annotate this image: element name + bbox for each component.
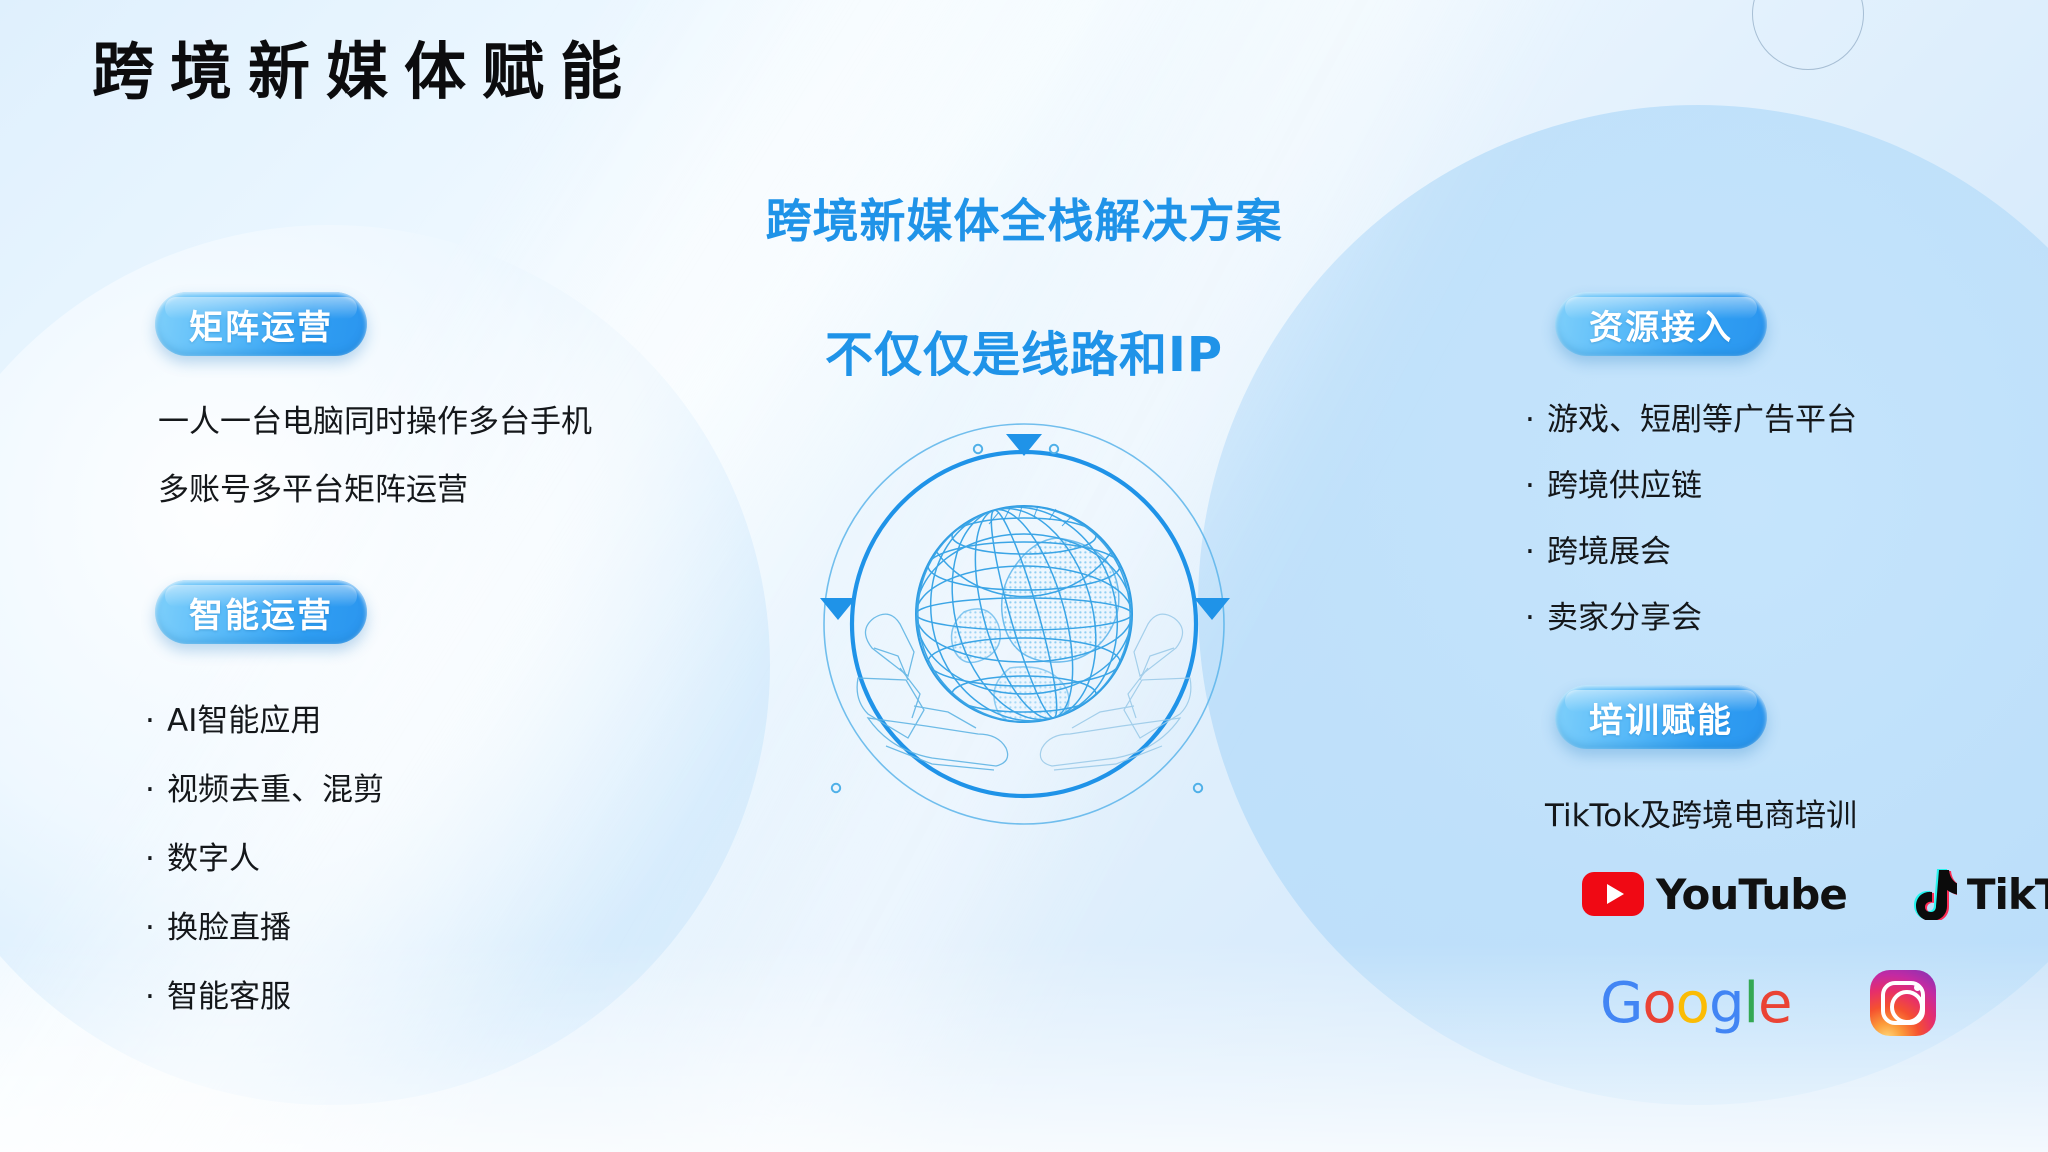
bullet-marker: · bbox=[1525, 600, 1547, 636]
bullet-marker: · bbox=[145, 772, 167, 808]
list-item-label: AI智能应用 bbox=[167, 703, 321, 739]
bullet-marker: · bbox=[1525, 534, 1547, 570]
right-text-line-1: TikTok及跨境电商培训 bbox=[1545, 796, 1857, 838]
youtube-label: YouTube bbox=[1656, 870, 1847, 919]
slide-canvas: 跨境新媒体赋能 跨境新媒体全栈解决方案 不仅仅是线路和IP 矩阵运营 一人一台电… bbox=[0, 0, 2048, 1152]
list-item: ·智能客服 bbox=[145, 971, 291, 1016]
left-text-line-2: 多账号多平台矩阵运营 bbox=[158, 470, 468, 512]
left-text-line-1: 一人一台电脑同时操作多台手机 bbox=[158, 402, 592, 444]
center-heading-primary: 跨境新媒体全栈解决方案 bbox=[0, 185, 2048, 251]
instagram-lens-icon bbox=[1890, 990, 1924, 1024]
pill-training-empowerment[interactable]: 培训赋能 bbox=[1555, 685, 1767, 749]
logo-row-top: YouTube TikTok bbox=[1582, 868, 2048, 920]
list-item: ·数字人 bbox=[145, 833, 260, 878]
pill-label: 智能运营 bbox=[189, 588, 333, 637]
google-logo[interactable]: Google bbox=[1600, 971, 1792, 1036]
tiktok-label: TikTok bbox=[1967, 870, 2048, 919]
bullet-marker: · bbox=[145, 703, 167, 739]
pill-label: 培训赋能 bbox=[1589, 693, 1733, 742]
instagram-dot-icon bbox=[1914, 984, 1921, 991]
globe-in-hands-icon bbox=[814, 416, 1234, 836]
pill-smart-operations[interactable]: 智能运营 bbox=[155, 580, 367, 644]
globe-illustration bbox=[814, 416, 1234, 836]
list-item-label: 跨境展会 bbox=[1547, 534, 1671, 570]
pill-label: 矩阵运营 bbox=[189, 300, 333, 349]
instagram-logo[interactable] bbox=[1870, 970, 1936, 1036]
list-item: ·换脸直播 bbox=[145, 902, 291, 947]
google-letter: o bbox=[1642, 971, 1675, 1036]
list-item-label: 跨境供应链 bbox=[1547, 468, 1702, 504]
list-item-label: 视频去重、混剪 bbox=[167, 772, 384, 808]
google-letter: o bbox=[1676, 971, 1709, 1036]
bullet-marker: · bbox=[145, 979, 167, 1015]
list-item: ·AI智能应用 bbox=[145, 695, 321, 740]
google-letter: e bbox=[1758, 971, 1791, 1036]
list-item-label: 卖家分享会 bbox=[1547, 600, 1702, 636]
list-item: ·跨境供应链 bbox=[1525, 460, 1702, 505]
pill-resource-access[interactable]: 资源接入 bbox=[1555, 292, 1767, 356]
tiktok-note-icon bbox=[1911, 868, 1957, 920]
bullet-marker: · bbox=[1525, 468, 1547, 504]
list-item: ·卖家分享会 bbox=[1525, 592, 1702, 637]
bullet-marker: · bbox=[145, 910, 167, 946]
bullet-marker: · bbox=[1525, 402, 1547, 438]
list-item: ·游戏、短剧等广告平台 bbox=[1525, 394, 1857, 439]
decorative-ring-icon bbox=[1752, 0, 1864, 70]
list-item: ·跨境展会 bbox=[1525, 526, 1671, 571]
list-item-label: 智能客服 bbox=[167, 979, 291, 1015]
list-item-label: 换脸直播 bbox=[167, 910, 291, 946]
list-item-label: 游戏、短剧等广告平台 bbox=[1547, 402, 1857, 438]
youtube-logo[interactable]: YouTube bbox=[1582, 870, 1847, 919]
pill-matrix-operations[interactable]: 矩阵运营 bbox=[155, 292, 367, 356]
page-title: 跨境新媒体赋能 bbox=[92, 38, 638, 106]
tiktok-logo[interactable]: TikTok bbox=[1911, 868, 2048, 920]
bullet-marker: · bbox=[145, 841, 167, 877]
google-letter: g bbox=[1709, 971, 1744, 1036]
google-letter: G bbox=[1600, 971, 1642, 1036]
youtube-play-icon bbox=[1582, 872, 1644, 916]
google-letter: l bbox=[1743, 971, 1758, 1036]
list-item: ·视频去重、混剪 bbox=[145, 764, 384, 809]
pill-label: 资源接入 bbox=[1589, 300, 1733, 349]
logo-row-bottom: Google bbox=[1600, 970, 1936, 1036]
list-item-label: 数字人 bbox=[167, 841, 260, 877]
